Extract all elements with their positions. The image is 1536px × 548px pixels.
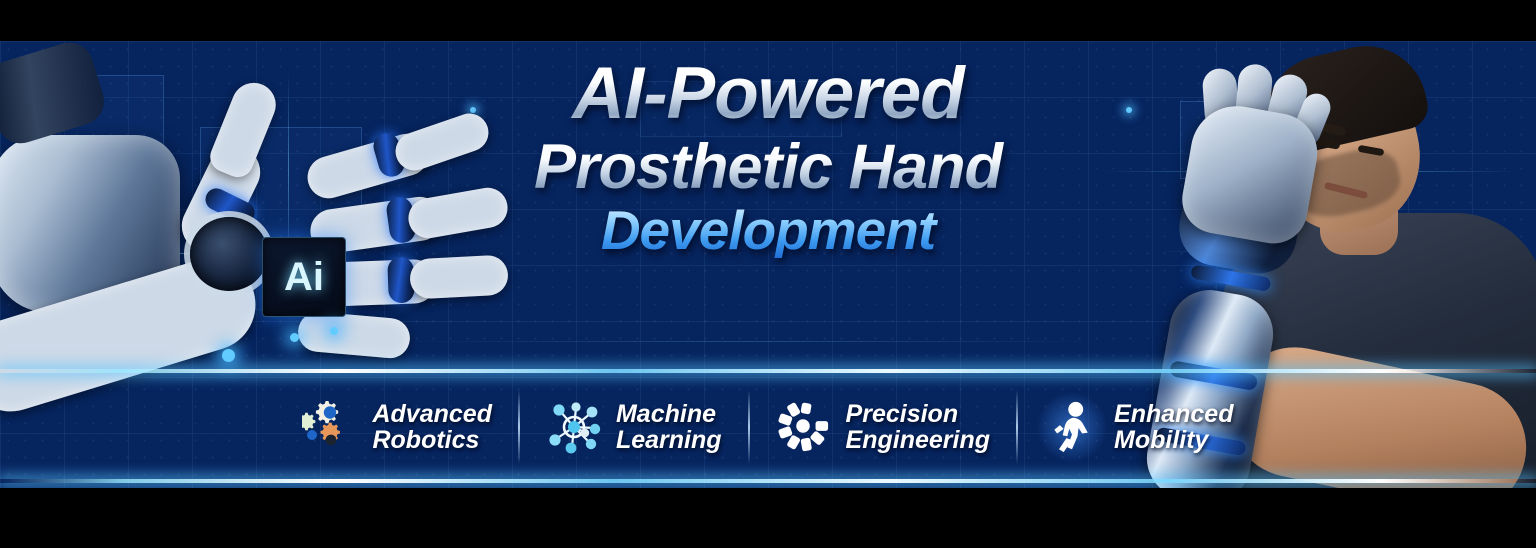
feature-label-line-1: Machine bbox=[616, 400, 716, 428]
feature-precision-engineering[interactable]: Precision Engineering bbox=[750, 384, 1016, 470]
feature-machine-learning[interactable]: Machine Learning bbox=[520, 384, 748, 470]
feature-label: Enhanced Mobility bbox=[1114, 401, 1233, 454]
robot-led bbox=[222, 349, 235, 362]
letterbox-bar-bottom bbox=[0, 488, 1536, 548]
artwork-canvas: Ai bbox=[0, 41, 1536, 488]
circuit-trace bbox=[400, 341, 1100, 342]
robotic-hand-illustration: Ai bbox=[0, 51, 420, 431]
feature-label-line-2: Mobility bbox=[1114, 426, 1208, 454]
robot-led bbox=[290, 333, 299, 342]
ai-chip-label: Ai bbox=[284, 255, 324, 300]
feature-label-line-2: Robotics bbox=[372, 426, 479, 454]
aperture-icon bbox=[776, 399, 832, 455]
robot-led bbox=[330, 327, 338, 335]
robot-thumb-tip bbox=[206, 76, 283, 181]
letterbox-bar-top bbox=[0, 0, 1536, 41]
divider-line-bottom bbox=[0, 479, 1536, 483]
feature-label: Machine Learning bbox=[616, 401, 722, 454]
prosthetic-hand bbox=[1177, 99, 1324, 249]
robot-palm-port bbox=[190, 217, 268, 291]
robot-finger bbox=[296, 310, 411, 360]
feature-label: Precision Engineering bbox=[846, 401, 990, 454]
feature-label: Advanced Robotics bbox=[372, 401, 491, 454]
feature-label-line-1: Precision bbox=[846, 400, 959, 428]
feature-label-line-1: Enhanced bbox=[1114, 400, 1233, 428]
robot-finger-tip bbox=[409, 254, 509, 299]
feature-enhanced-mobility[interactable]: Enhanced Mobility bbox=[1018, 384, 1259, 470]
robot-wrist-band bbox=[0, 41, 110, 149]
feature-label-line-2: Learning bbox=[616, 426, 722, 454]
glow-point bbox=[470, 107, 476, 113]
ai-chip: Ai bbox=[262, 237, 346, 317]
banner-image: Ai bbox=[0, 0, 1536, 548]
walking-person-icon bbox=[1044, 399, 1100, 455]
feature-advanced-robotics[interactable]: Advanced Robotics bbox=[276, 384, 517, 470]
feature-label-line-1: Advanced bbox=[372, 400, 491, 428]
feature-strip: Advanced Robotics bbox=[0, 377, 1536, 477]
divider-line-top bbox=[0, 369, 1536, 373]
hud-panel bbox=[640, 81, 842, 137]
feature-label-line-2: Engineering bbox=[846, 426, 990, 454]
gears-icon bbox=[302, 399, 358, 455]
network-nodes-icon bbox=[546, 399, 602, 455]
